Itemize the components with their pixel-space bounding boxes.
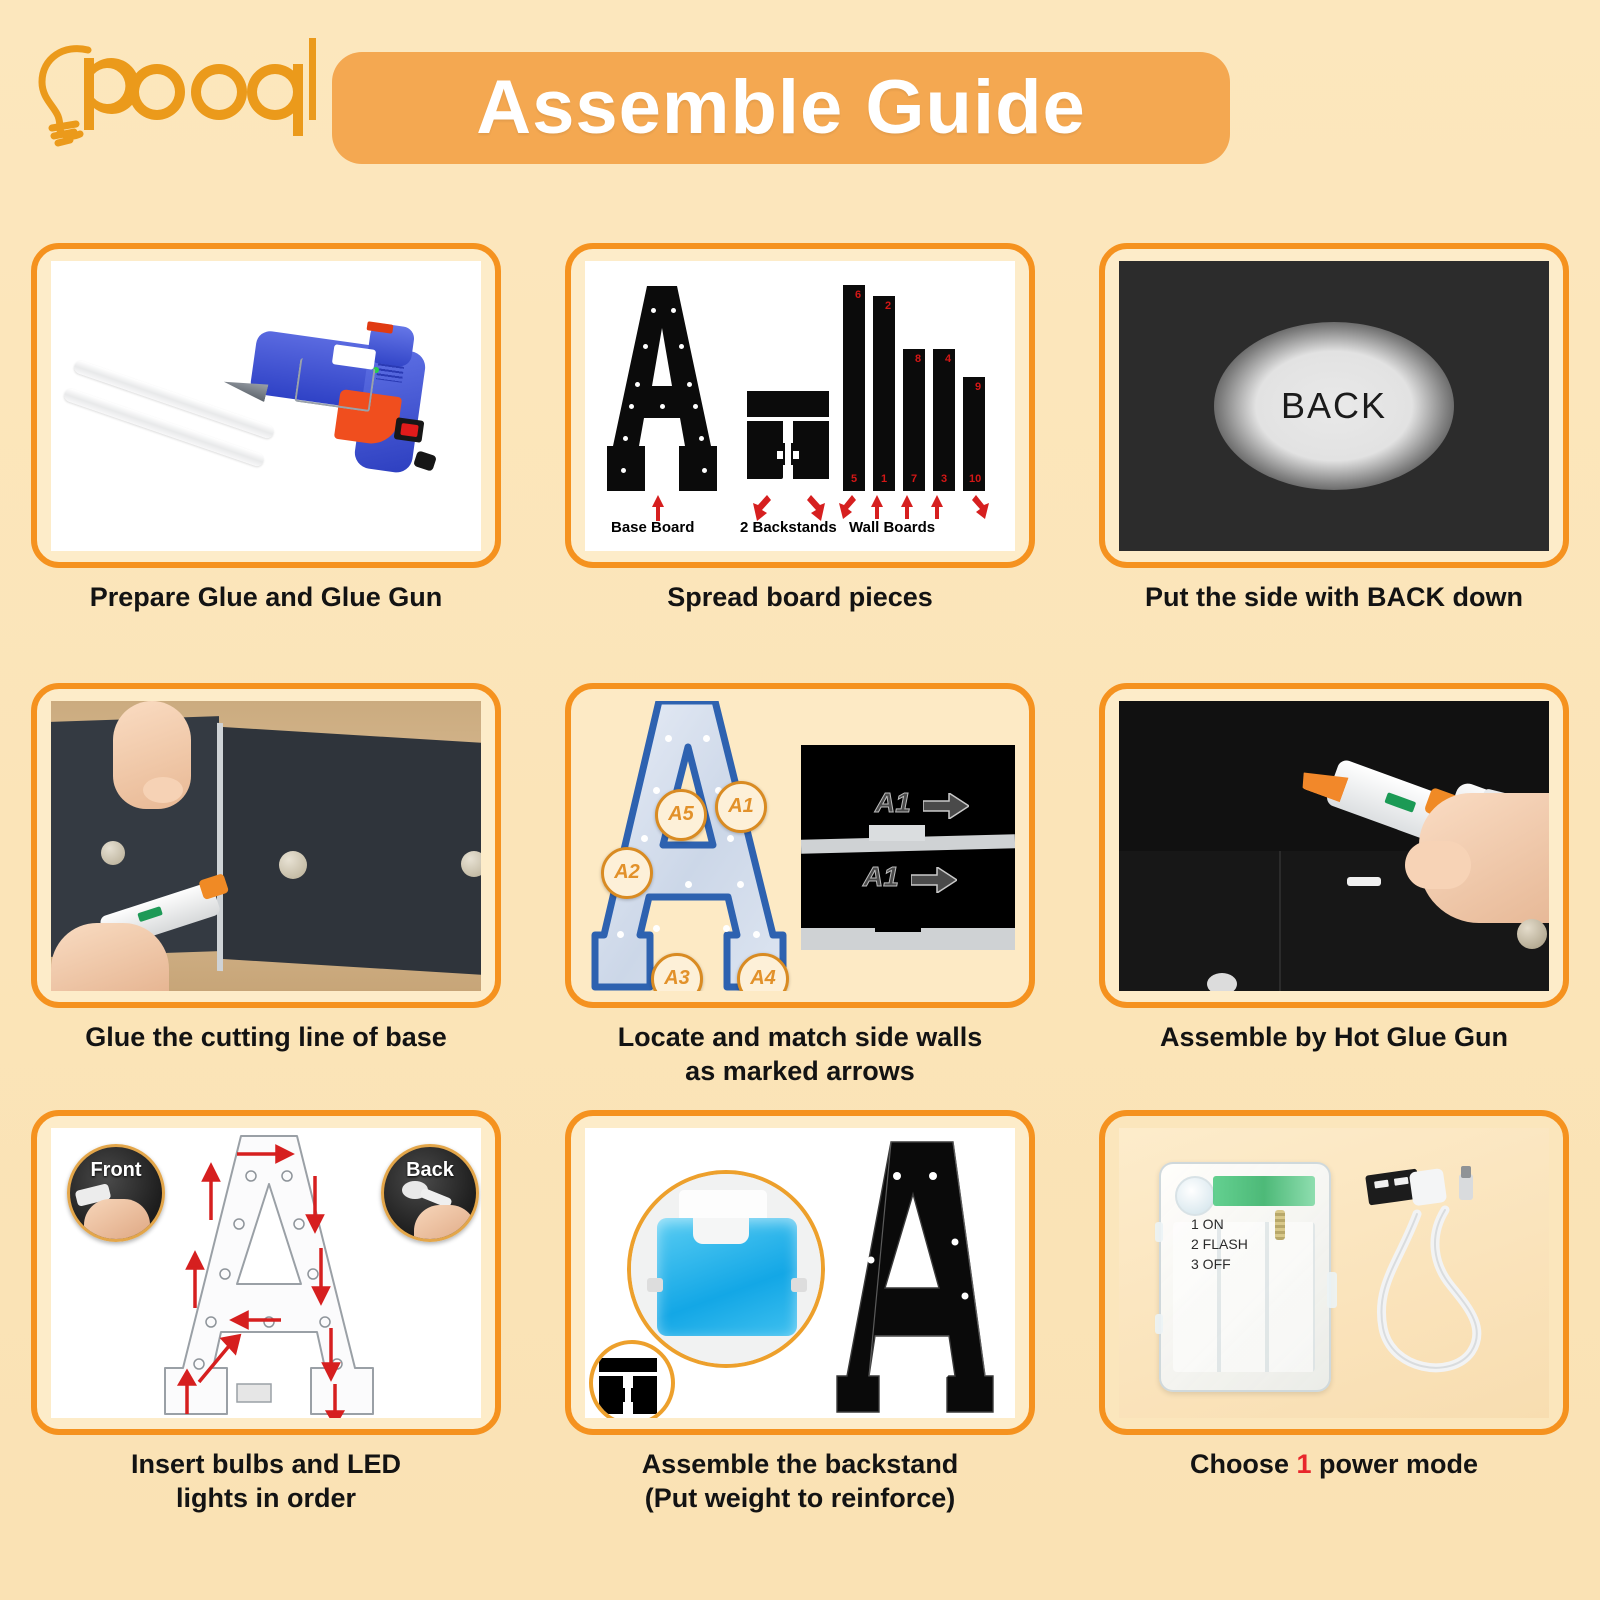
- page-title: Assemble Guide: [476, 70, 1086, 146]
- step-6-caption: Assemble by Hot Glue Gun: [1099, 1021, 1569, 1055]
- base-board-arrow: [647, 495, 669, 521]
- step-9-caption: Choose 1 power mode: [1099, 1448, 1569, 1482]
- step-5-caption-line1: Locate and match side walls: [618, 1022, 983, 1052]
- step-9-caption-suffix: power mode: [1312, 1449, 1479, 1479]
- wall-board-num-bottom-4: 3: [941, 473, 947, 485]
- step-7-caption-line2: lights in order: [176, 1483, 356, 1513]
- wall-board-num-top-5: 9: [975, 381, 981, 393]
- power-mode-1: 1 ON: [1191, 1216, 1224, 1232]
- backstands-label: 2 Backstands: [740, 519, 837, 536]
- battery-box: 1 ON 2 FLASH 3 OFF: [1159, 1162, 1331, 1392]
- step-5-caption-line2: as marked arrows: [685, 1056, 915, 1086]
- marker-a2: A2: [601, 847, 653, 899]
- inset-label-a1-top: A1: [875, 787, 911, 819]
- base-board-letter-a: [607, 286, 717, 491]
- backstand-assembly-photo: [585, 1128, 1015, 1418]
- marker-a1: A1: [715, 781, 767, 833]
- step-9-caption-number: 1: [1296, 1449, 1311, 1479]
- step-card-7: Front Back Insert bulbs and LED lights i: [31, 1110, 501, 1516]
- usb-cable: [1359, 1166, 1539, 1398]
- front-badge-photo: Front: [67, 1144, 165, 1242]
- assembled-letter-a: [835, 1138, 995, 1416]
- step-3-frame: BACK: [1099, 243, 1569, 568]
- letter-a-markers-diagram: A5 A1 A2 A3 A4 A1: [585, 701, 1015, 991]
- wall-board-num-top-1: 6: [855, 289, 861, 301]
- step-5-frame: A5 A1 A2 A3 A4 A1: [565, 683, 1035, 1008]
- backstand-arrow-left: [753, 495, 777, 521]
- wall-board-num-top-2: 2: [885, 300, 891, 312]
- step-card-1: Prepare Glue and Glue Gun: [31, 243, 501, 615]
- wall-board-num-bottom-3: 7: [911, 473, 917, 485]
- weight-bag-zoom-circle: [627, 1170, 825, 1368]
- front-label: Front: [70, 1159, 162, 1182]
- step-card-9: 1 ON 2 FLASH 3 OFF: [1099, 1110, 1569, 1482]
- brand-logo: [26, 28, 316, 148]
- step-8-caption-line1: Assemble the backstand: [642, 1449, 959, 1479]
- bulb-insert-order-diagram: Front Back: [51, 1128, 481, 1418]
- wall-board-num-top-4: 4: [945, 353, 951, 365]
- step-card-8: Assemble the backstand (Put weight to re…: [565, 1110, 1035, 1516]
- power-mode-3: 3 OFF: [1191, 1256, 1231, 1272]
- step-7-caption-line1: Insert bulbs and LED: [131, 1449, 401, 1479]
- step-7-frame: Front Back: [31, 1110, 501, 1435]
- step-5-caption: Locate and match side walls as marked ar…: [565, 1021, 1035, 1089]
- glue-gun-and-glue-sticks-photo: [51, 261, 481, 551]
- base-board-label: Base Board: [611, 519, 694, 536]
- page-root: Assemble Guide: [0, 0, 1600, 1600]
- back-badge-photo: Back: [381, 1144, 479, 1242]
- step-7-caption: Insert bulbs and LED lights in order: [31, 1448, 501, 1516]
- step-1-frame: [31, 243, 501, 568]
- wall-board-num-top-3: 8: [915, 353, 921, 365]
- step-card-2: Base Board: [565, 243, 1035, 615]
- bulb-order-arrows: [151, 1132, 391, 1418]
- usb-cable-shape: [1359, 1166, 1539, 1398]
- letter-a-shape: [587, 701, 791, 991]
- back-word: BACK: [1281, 385, 1387, 427]
- step-card-5: A5 A1 A2 A3 A4 A1: [565, 683, 1035, 1089]
- assembling-with-hot-glue-gun-photo: [1119, 701, 1549, 991]
- a1-match-inset-photo: A1 A1: [801, 745, 1015, 950]
- power-mode-2: 2 FLASH: [1191, 1236, 1248, 1252]
- wall-board-num-bottom-5: 10: [969, 473, 981, 485]
- step-2-caption: Spread board pieces: [565, 581, 1035, 615]
- wall-board-arrows: [837, 495, 1007, 521]
- back-label: Back: [384, 1159, 476, 1182]
- step-1-caption: Prepare Glue and Glue Gun: [31, 581, 501, 615]
- step-3-caption: Put the side with BACK down: [1099, 581, 1569, 615]
- step-8-caption-line2: (Put weight to reinforce): [645, 1483, 956, 1513]
- back-side-photo: BACK: [1119, 261, 1549, 551]
- wall-boards-label: Wall Boards: [849, 519, 935, 536]
- arrow-right-icon-bottom: [911, 867, 957, 893]
- wall-board-num-bottom-1: 5: [851, 473, 857, 485]
- step-card-4: Glue the cutting line of base: [31, 683, 501, 1055]
- step-2-frame: Base Board: [565, 243, 1035, 568]
- battery-box-and-usb-cable-photo: 1 ON 2 FLASH 3 OFF: [1119, 1128, 1549, 1418]
- step-4-frame: [31, 683, 501, 1008]
- step-9-caption-prefix: Choose: [1190, 1449, 1297, 1479]
- gluing-base-cut-line-photo: [51, 701, 481, 991]
- step-9-frame: 1 ON 2 FLASH 3 OFF: [1099, 1110, 1569, 1435]
- inset-label-a1-bottom: A1: [863, 861, 899, 893]
- wall-board-num-bottom-2: 1: [881, 473, 887, 485]
- steps-grid: Prepare Glue and Glue Gun: [0, 200, 1600, 1600]
- board-pieces-diagram: Base Board: [585, 261, 1015, 551]
- marker-a5: A5: [655, 789, 707, 841]
- backstand-arrow-right: [801, 495, 825, 521]
- step-card-3: BACK Put the side with BACK down: [1099, 243, 1569, 615]
- page-title-banner: Assemble Guide: [332, 52, 1230, 164]
- arrow-right-icon-top: [923, 793, 969, 819]
- step-8-frame: [565, 1110, 1035, 1435]
- lightbulb-icon: [26, 28, 316, 148]
- step-4-caption: Glue the cutting line of base: [31, 1021, 501, 1055]
- page-header: Assemble Guide: [0, 0, 1600, 200]
- step-8-caption: Assemble the backstand (Put weight to re…: [565, 1448, 1035, 1516]
- step-card-6: Assemble by Hot Glue Gun: [1099, 683, 1569, 1055]
- step-6-frame: [1099, 683, 1569, 1008]
